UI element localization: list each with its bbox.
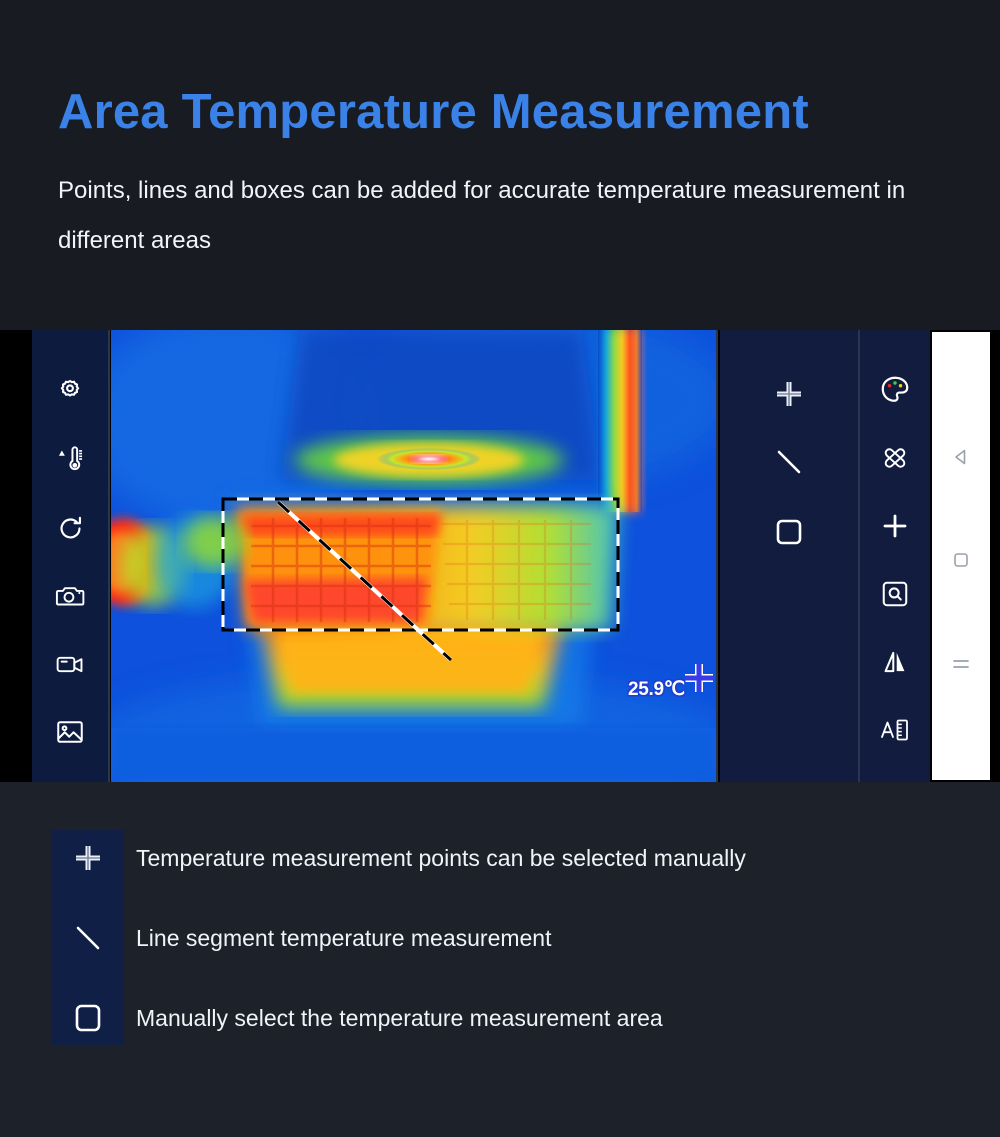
list-item: Temperature measurement points can be se… xyxy=(52,822,746,894)
crosshair-point-icon xyxy=(52,822,124,894)
thermal-image-view[interactable]: 25.9℃ 27.0℃ 37.7℃ 32.6℃ 36.7℃ xyxy=(111,330,716,782)
page-header: Area Temperature Measurement Points, lin… xyxy=(0,0,1000,330)
list-item: Manually select the temperature measurem… xyxy=(52,982,663,1054)
rectangle-area-icon[interactable] xyxy=(720,510,858,554)
page-title: Area Temperature Measurement xyxy=(58,84,809,140)
magnifier-box-icon[interactable] xyxy=(860,572,930,616)
crosshair-point-icon[interactable] xyxy=(720,372,858,416)
gallery-icon[interactable] xyxy=(32,712,108,752)
legend-label: Manually select the temperature measurem… xyxy=(136,1005,663,1032)
legend-section: Temperature measurement points can be se… xyxy=(0,782,1000,1137)
thermometer-alert-icon[interactable] xyxy=(32,440,108,480)
left-toolbar xyxy=(32,330,108,782)
page-subtitle: Points, lines and boxes can be added for… xyxy=(58,166,948,266)
measure-tool-panel xyxy=(720,330,858,782)
line-segment-icon xyxy=(52,902,124,974)
crossed-tools-icon[interactable] xyxy=(860,436,930,480)
legend-label: Line segment temperature measurement xyxy=(136,925,552,952)
right-toolbar xyxy=(860,330,930,782)
android-navbar xyxy=(932,332,990,780)
thermal-image xyxy=(111,330,716,782)
device-screenshot: 25.9℃ 27.0℃ 37.7℃ 32.6℃ 36.7℃ xyxy=(0,330,1000,782)
rectangle-area-icon xyxy=(52,982,124,1054)
panel-divider xyxy=(108,330,110,782)
line-segment-icon[interactable] xyxy=(720,440,858,484)
panel-divider xyxy=(716,330,718,782)
gear-icon[interactable] xyxy=(32,372,108,412)
plus-icon[interactable] xyxy=(860,504,930,548)
menu-hamburger-icon[interactable] xyxy=(932,644,990,684)
legend-label: Temperature measurement points can be se… xyxy=(136,845,746,872)
temp-label: 25.9℃ xyxy=(628,678,685,701)
home-square-icon[interactable] xyxy=(932,540,990,580)
palette-icon[interactable] xyxy=(860,368,930,412)
text-ruler-icon[interactable] xyxy=(860,708,930,752)
back-triangle-icon[interactable] xyxy=(932,437,990,477)
camera-icon[interactable] xyxy=(32,576,108,616)
refresh-icon[interactable] xyxy=(32,508,108,548)
screen-bezel-left xyxy=(0,330,32,782)
video-camera-icon[interactable] xyxy=(32,644,108,684)
mirror-flip-icon[interactable] xyxy=(860,640,930,684)
crosshair-marker xyxy=(681,660,716,696)
list-item: Line segment temperature measurement xyxy=(52,902,552,974)
